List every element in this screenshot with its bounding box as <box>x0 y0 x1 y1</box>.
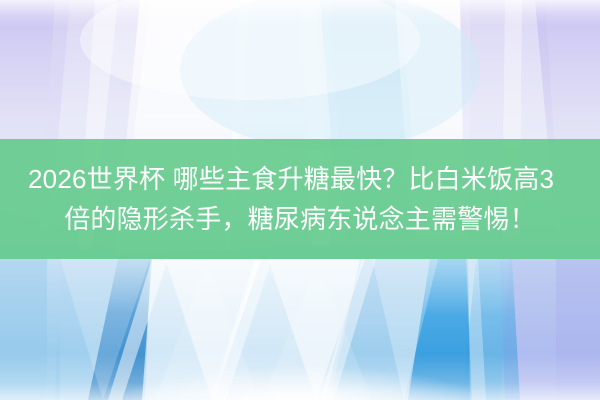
caption-band: 2026世界杯 哪些主食升糖最快？比白米饭高3 倍的隐形杀手，糖尿病东说念主需警… <box>0 139 600 259</box>
caption-line-2: 倍的隐形杀手，糖尿病东说念主需警惕！ <box>64 199 536 239</box>
caption-line-1: 2026世界杯 哪些主食升糖最快？比白米饭高3 <box>28 159 554 199</box>
article-banner: 2026世界杯 哪些主食升糖最快？比白米饭高3 倍的隐形杀手，糖尿病东说念主需警… <box>0 0 600 400</box>
